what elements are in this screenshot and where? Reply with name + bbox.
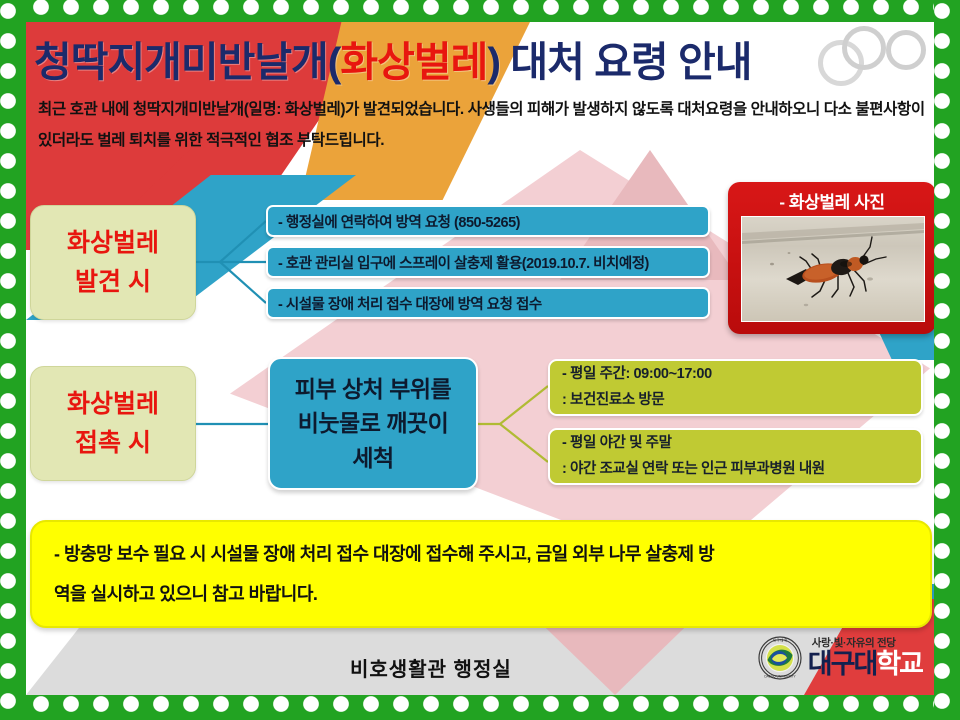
label-box-when-contacted: 화상벌레 접촉 시 (30, 366, 196, 481)
border-bottom (0, 695, 960, 720)
svg-text:DAEGU UNIVERSITY: DAEGU UNIVERSITY (764, 674, 796, 678)
footer-office-name: 비호생활관 행정실 (350, 653, 512, 682)
label-when-contacted-line2: 접촉 시 (67, 424, 159, 463)
label-when-found-line2: 발견 시 (67, 263, 159, 302)
page-title-highlight: 화상벌레 (340, 39, 487, 85)
label-box-when-found: 화상벌레 발견 시 (30, 205, 196, 320)
option-night-weekend-line1: - 평일 야간 및 주말 (562, 431, 825, 456)
logo-name-light: 학교 (876, 649, 922, 679)
notice-line1: - 방충망 보수 필요 시 시설물 장애 처리 접수 대장에 접수해 주시고, … (54, 534, 714, 575)
header-zone: 청딱지개미반날개(화상벌레) 대처 요령 안내 최근 호관 내에 청딱지개미반날… (26, 22, 934, 162)
option-weekday-daytime-line1: - 평일 주간: 09:00~17:00 (562, 362, 712, 387)
page-title: 청딱지개미반날개(화상벌레) 대처 요령 안내 (34, 28, 864, 88)
logo-name-dark: 대구대 (808, 649, 877, 679)
logo-university-name: 대구대학교 (808, 651, 922, 678)
beetle-photo-image (742, 217, 924, 321)
border-left (0, 0, 26, 720)
photo-frame (741, 216, 925, 322)
notice-box: - 방충망 보수 필요 시 시설물 장애 처리 접수 대장에 접수해 주시고, … (30, 520, 932, 628)
page-title-prefix: 청딱지개미반날개( (34, 39, 340, 85)
action-found-item-1-text: - 행정실에 연락하여 방역 요청 (850-5265) (278, 211, 520, 232)
page-title-suffix: ) 대처 요령 안내 (487, 39, 751, 85)
svg-text:대 구 대 학: 대 구 대 학 (773, 638, 787, 643)
university-logo: 대 구 대 학 DAEGU UNIVERSITY 사랑·빛·자유의 전당 대구대… (758, 630, 922, 686)
logo-tagline: 사랑·빛·자유의 전당 (808, 638, 896, 649)
action-wash-line1: 피부 상처 부위를 (295, 372, 451, 407)
option-weekday-daytime: - 평일 주간: 09:00~17:00 : 보건진료소 방문 (548, 359, 923, 416)
option-weekday-daytime-line2: : 보건진료소 방문 (562, 388, 712, 413)
option-night-weekend: - 평일 야간 및 주말 : 야간 조교실 연락 또는 인근 피부과병원 내원 (548, 428, 923, 485)
action-found-item-2: - 호관 관리실 입구에 스프레이 살충제 활용(2019.10.7. 비치예정… (266, 246, 710, 278)
poster-root: 청딱지개미반날개(화상벌레) 대처 요령 안내 최근 호관 내에 청딱지개미반날… (0, 0, 960, 720)
intro-paragraph: 최근 호관 내에 청딱지개미반날개(일명: 화상벌레)가 발견되었습니다. 사생… (38, 94, 926, 156)
border-right (934, 0, 960, 720)
action-found-item-1: - 행정실에 연락하여 방역 요청 (850-5265) (266, 205, 710, 237)
action-found-item-2-text: - 호관 관리실 입구에 스프레이 살충제 활용(2019.10.7. 비치예정… (278, 252, 649, 273)
label-when-contacted-line1: 화상벌레 (67, 385, 159, 424)
action-wash-line3: 세척 (295, 441, 451, 476)
border-top (0, 0, 960, 22)
action-wash-wound: 피부 상처 부위를 비눗물로 깨끗이 세척 (268, 357, 478, 490)
option-night-weekend-line2: : 야간 조교실 연락 또는 인근 피부과병원 내원 (562, 457, 825, 482)
university-emblem-icon: 대 구 대 학 DAEGU UNIVERSITY (758, 636, 802, 680)
action-found-item-3: - 시설물 장애 처리 접수 대장에 방역 요청 접수 (266, 287, 710, 319)
photo-card: - 화상벌레 사진 (728, 182, 936, 334)
logo-text-group: 사랑·빛·자유의 전당 대구대학교 (808, 638, 922, 678)
photo-caption: - 화상벌레 사진 (728, 188, 936, 213)
notice-line2: 역을 실시하고 있으니 참고 바랍니다. (54, 574, 714, 615)
action-wash-line2: 비눗물로 깨끗이 (295, 406, 451, 441)
label-when-found-line1: 화상벌레 (67, 224, 159, 263)
action-found-item-3-text: - 시설물 장애 처리 접수 대장에 방역 요청 접수 (278, 293, 542, 314)
